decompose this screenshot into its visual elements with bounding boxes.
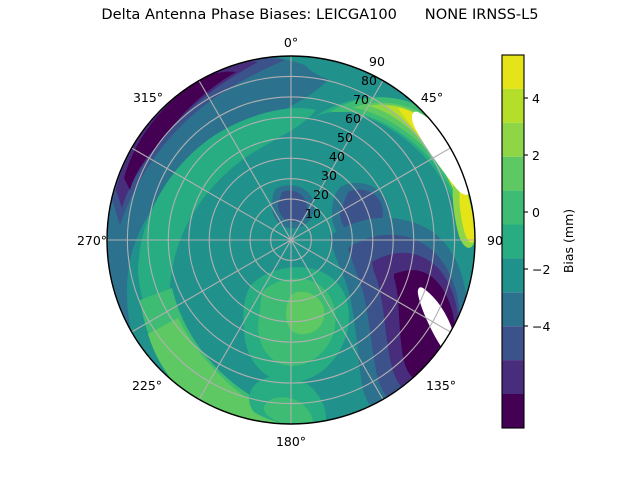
r-label-70: 70 — [353, 92, 369, 107]
colorbar-label-neg4: −4 — [532, 319, 550, 334]
colorbar-band-3 — [502, 326, 524, 360]
colorbar-band-2 — [502, 360, 524, 394]
colorbar-band-10 — [502, 89, 524, 123]
figure-title: Delta Antenna Phase Biases: LEICGA100 NO… — [0, 6, 640, 23]
figure-canvas: Delta Antenna Phase Biases: LEICGA100 NO… — [0, 0, 640, 480]
theta-label-315: 315° — [133, 90, 163, 105]
r-label-90: 90 — [369, 54, 385, 69]
r-label-10: 10 — [305, 206, 321, 221]
theta-label-45: 45° — [421, 90, 443, 105]
colorbar-band-4 — [502, 292, 524, 326]
r-label-50: 50 — [337, 130, 353, 145]
colorbar-ticks — [524, 98, 528, 326]
colorbar-label-0: 0 — [532, 205, 540, 220]
colorbar-label-2: 2 — [532, 148, 540, 163]
colorbar-band-1 — [502, 394, 524, 428]
polar-plot-svg: 0° 45° 90 135° 180° 225° 270° 315° 10 20… — [0, 0, 640, 480]
r-label-60: 60 — [345, 111, 361, 126]
theta-label-225: 225° — [132, 378, 162, 393]
theta-label-90: 90 — [487, 233, 503, 248]
colorbar-band-8 — [502, 157, 524, 191]
colorbar-band-5 — [502, 258, 524, 292]
theta-label-180: 180° — [276, 434, 306, 449]
colorbar-axis-title: Bias (mm) — [561, 209, 576, 273]
theta-label-135: 135° — [426, 378, 456, 393]
r-label-40: 40 — [329, 149, 345, 164]
colorbar-label-neg2: −2 — [532, 262, 550, 277]
colorbar-band-6 — [502, 225, 524, 259]
colorbar-band-9 — [502, 123, 524, 157]
colorbar[interactable]: 4 2 0 −2 −4 Bias (mm) — [502, 55, 576, 428]
colorbar-band-7 — [502, 191, 524, 225]
colorbar-band-11 — [502, 55, 524, 89]
theta-label-0: 0° — [284, 35, 298, 50]
r-label-30: 30 — [321, 168, 337, 183]
r-label-20: 20 — [313, 187, 329, 202]
colorbar-label-4: 4 — [532, 91, 540, 106]
theta-label-270: 270° — [77, 233, 107, 248]
colorbar-tick-labels: 4 2 0 −2 −4 — [532, 91, 550, 334]
r-label-80: 80 — [361, 73, 377, 88]
